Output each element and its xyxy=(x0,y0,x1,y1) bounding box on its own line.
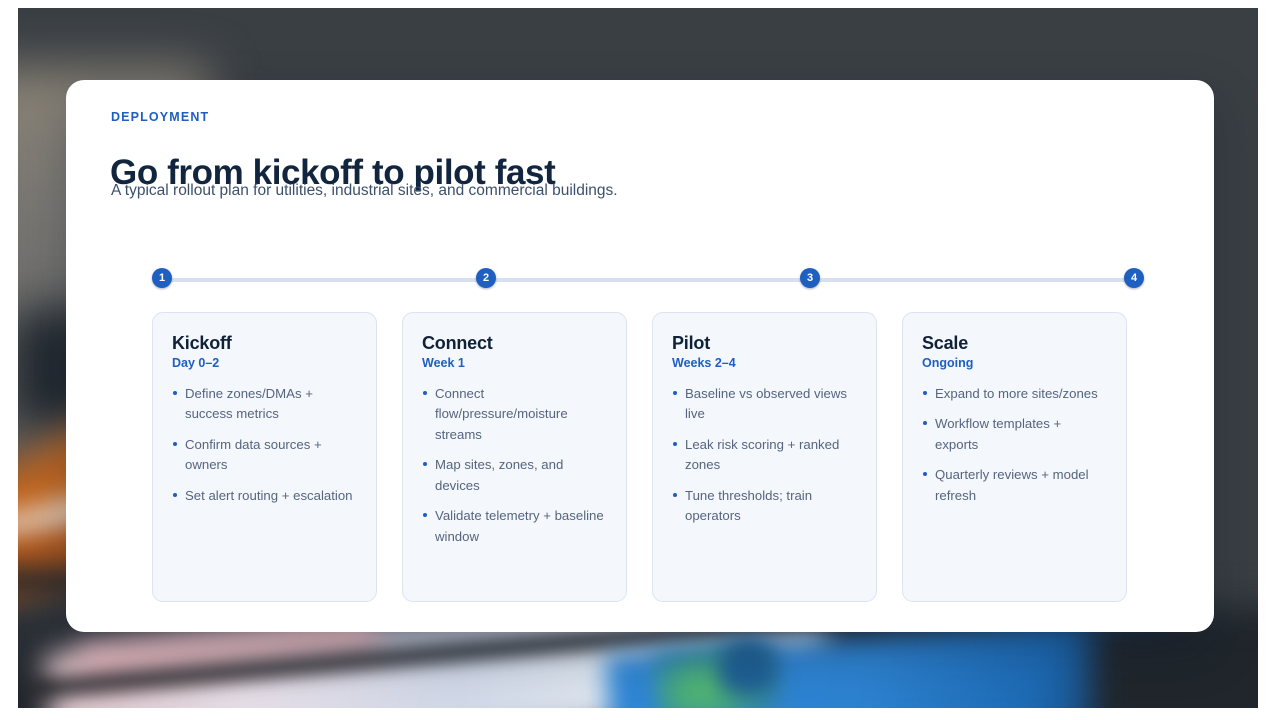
step-card-title: Pilot xyxy=(672,333,857,354)
step-progress-rail: 1234 xyxy=(152,268,1144,292)
step-card-title: Connect xyxy=(422,333,607,354)
step-bullet-item: Validate telemetry + baseline window xyxy=(422,506,607,547)
step-card-timeframe: Ongoing xyxy=(922,356,1107,370)
rail-step-marker-2[interactable]: 2 xyxy=(476,268,496,288)
step-card-timeframe: Day 0–2 xyxy=(172,356,357,370)
step-card-timeframe: Week 1 xyxy=(422,356,607,370)
step-bullet-item: Expand to more sites/zones xyxy=(922,384,1107,404)
rail-step-marker-3[interactable]: 3 xyxy=(800,268,820,288)
slide-stage: DEPLOYMENT Go from kickoff to pilot fast… xyxy=(0,0,1280,720)
step-card-title: Kickoff xyxy=(172,333,357,354)
step-card-kickoff[interactable]: KickoffDay 0–2Define zones/DMAs + succes… xyxy=(152,312,377,602)
step-bullet-item: Map sites, zones, and devices xyxy=(422,455,607,496)
background-tablet-teal-shape xyxy=(718,640,778,696)
step-card-scale[interactable]: ScaleOngoingExpand to more sites/zonesWo… xyxy=(902,312,1127,602)
step-bullet-item: Confirm data sources + owners xyxy=(172,435,357,476)
step-bullet-item: Set alert routing + escalation xyxy=(172,486,357,506)
step-bullet-item: Connect flow/pressure/moisture streams xyxy=(422,384,607,445)
step-bullet-item: Workflow templates + exports xyxy=(922,414,1107,455)
content-panel: DEPLOYMENT Go from kickoff to pilot fast… xyxy=(66,80,1214,632)
rail-connector-line xyxy=(162,278,1134,282)
rail-step-marker-1[interactable]: 1 xyxy=(152,268,172,288)
step-bullet-item: Quarterly reviews + model refresh xyxy=(922,465,1107,506)
step-card-connect[interactable]: ConnectWeek 1Connect flow/pressure/moist… xyxy=(402,312,627,602)
section-eyebrow: DEPLOYMENT xyxy=(111,110,209,124)
step-card-bullets: Expand to more sites/zonesWorkflow templ… xyxy=(922,384,1107,506)
step-card-bullets: Baseline vs observed views liveLeak risk… xyxy=(672,384,857,527)
page-subtitle: A typical rollout plan for utilities, in… xyxy=(111,182,618,200)
step-bullet-item: Baseline vs observed views live xyxy=(672,384,857,425)
rail-step-marker-4[interactable]: 4 xyxy=(1124,268,1144,288)
step-bullet-item: Tune thresholds; train operators xyxy=(672,486,857,527)
step-card-title: Scale xyxy=(922,333,1107,354)
step-bullet-item: Leak risk scoring + ranked zones xyxy=(672,435,857,476)
step-bullet-item: Define zones/DMAs + success metrics xyxy=(172,384,357,425)
step-card-timeframe: Weeks 2–4 xyxy=(672,356,857,370)
step-card-list: KickoffDay 0–2Define zones/DMAs + succes… xyxy=(152,312,1144,602)
step-card-bullets: Connect flow/pressure/moisture streamsMa… xyxy=(422,384,607,547)
step-card-pilot[interactable]: PilotWeeks 2–4Baseline vs observed views… xyxy=(652,312,877,602)
step-card-bullets: Define zones/DMAs + success metricsConfi… xyxy=(172,384,357,506)
